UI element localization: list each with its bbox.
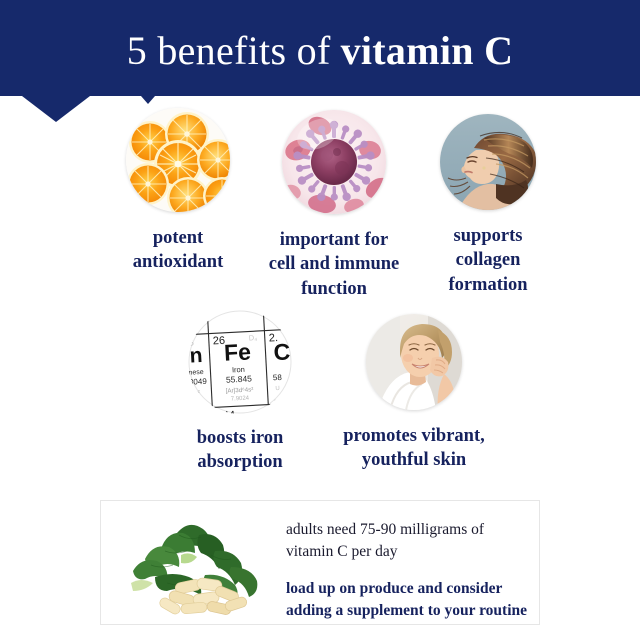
benefit-label-4: boosts iron absorption	[146, 426, 334, 475]
benefit-item-1: potent antioxidant	[126, 108, 230, 212]
svg-text:55.845: 55.845	[226, 373, 253, 384]
virus-cell-photo	[282, 110, 386, 214]
svg-text:nese: nese	[188, 369, 204, 377]
header-notch-large	[22, 96, 90, 122]
benefit-label-3-line-1: supports	[392, 224, 584, 248]
benefit-label-5-line-2: youthful skin	[320, 448, 508, 472]
info-text: adults need 75-90 milligrams of vitamin …	[286, 519, 534, 622]
benefit-label-3: supports collagen formation	[392, 224, 584, 297]
benefit-item-4: 26 Fe Iron 55.845 [Ar]3d⁶4s² 7.9024 44 n…	[188, 310, 292, 414]
benefit-label-5-line-1: promotes vibrant,	[320, 424, 508, 448]
benefit-item-5: promotes vibrant, youthful skin	[366, 314, 462, 410]
header-notch-small	[141, 96, 155, 104]
benefit-label-4-line-1: boosts iron	[146, 426, 334, 450]
svg-text:7.9024: 7.9024	[231, 396, 250, 403]
svg-text:4s²: 4s²	[191, 390, 200, 396]
skincare-woman-photo	[366, 314, 462, 410]
page-title-light: 5 benefits of	[127, 27, 331, 74]
svg-text:58: 58	[273, 373, 283, 382]
orange-slices-photo	[126, 108, 230, 212]
svg-text:D₄: D₄	[249, 333, 258, 342]
svg-text:C: C	[273, 338, 291, 365]
benefit-label-4-line-2: absorption	[146, 450, 334, 474]
info-line-recommendation: load up on produce and consider adding a…	[286, 578, 534, 622]
benefit-item-2: important for cell and immune function	[282, 110, 386, 214]
svg-text:Fe: Fe	[223, 338, 251, 365]
benefit-label-3-line-3: formation	[392, 273, 584, 297]
svg-text:3049: 3049	[189, 377, 208, 387]
greens-and-supplements-photo	[115, 515, 280, 615]
svg-text:25: 25	[188, 338, 195, 347]
page-title-bold: vitamin C	[341, 27, 514, 74]
info-box: adults need 75-90 milligrams of vitamin …	[100, 500, 540, 625]
info-line-daily-requirement: adults need 75-90 milligrams of vitamin …	[286, 519, 534, 563]
svg-text:44: 44	[222, 409, 235, 414]
periodic-table-iron-photo: 26 Fe Iron 55.845 [Ar]3d⁶4s² 7.9024 44 n…	[188, 310, 292, 414]
benefit-item-3: supports collagen formation	[440, 114, 536, 210]
svg-text:[Ar]3d⁶4s²: [Ar]3d⁶4s²	[226, 386, 254, 394]
benefit-label-3-line-2: collagen	[392, 248, 584, 272]
benefit-label-5: promotes vibrant, youthful skin	[320, 424, 508, 473]
page-title: 5 benefits of vitamin C	[0, 0, 640, 96]
flowing-hair-photo	[440, 114, 536, 210]
svg-text:U: U	[275, 386, 280, 392]
svg-text:E: E	[274, 399, 279, 406]
